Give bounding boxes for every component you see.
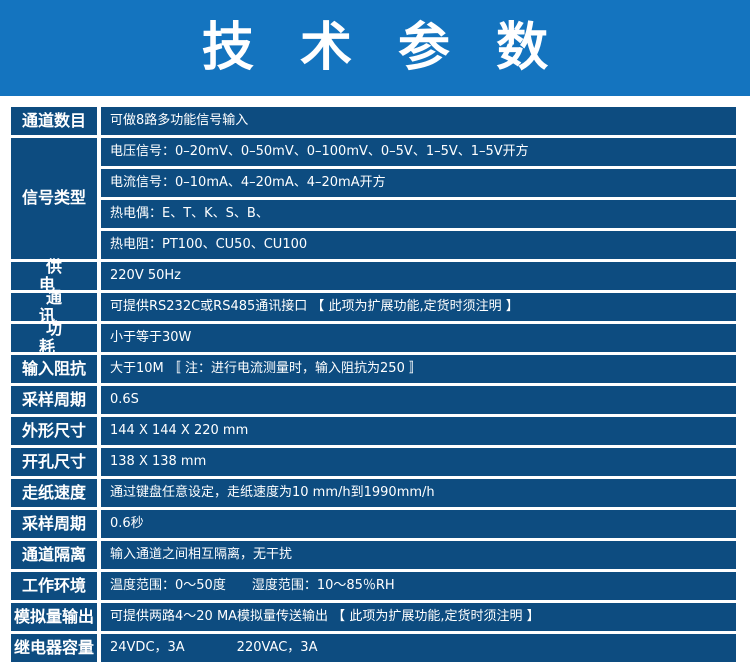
row-label: 继电器容量	[11, 634, 97, 662]
row-values: 电压信号：0–20mV、0–50mV、0–100mV、0–5V、1–5V、1–5…	[101, 138, 736, 259]
row-values: 可提供RS232C或RS485通讯接口 【 此项为扩展功能,定货时须注明 】	[101, 293, 736, 321]
row-value: 热电阻：PT100、CU50、CU100	[101, 231, 736, 259]
row-value: 可提供RS232C或RS485通讯接口 【 此项为扩展功能,定货时须注明 】	[101, 293, 736, 321]
table-row: 工作环境温度范围：0～50度 湿度范围：10～85％RH	[11, 572, 736, 600]
row-value: 0.6秒	[101, 510, 736, 538]
row-value: 大于10M 〚 注：进行电流测量时，输入阻抗为250 〛	[101, 355, 736, 383]
row-label: 功 耗	[11, 324, 97, 352]
row-values: 通过键盘任意设定，走纸速度为10 mm/h到1990mm/h	[101, 479, 736, 507]
table-row: 通道数目可做8路多功能信号输入	[11, 107, 736, 135]
row-label: 信号类型	[11, 138, 97, 259]
row-values: 144 X 144 X 220 mm	[101, 417, 736, 445]
row-value: 可做8路多功能信号输入	[101, 107, 736, 135]
table-row: 采样周期0.6秒	[11, 510, 736, 538]
row-label: 采样周期	[11, 386, 97, 414]
row-values: 0.6S	[101, 386, 736, 414]
row-values: 0.6秒	[101, 510, 736, 538]
table-row: 外形尺寸144 X 144 X 220 mm	[11, 417, 736, 445]
row-value: 热电偶：E、T、K、S、B、	[101, 200, 736, 228]
row-label: 走纸速度	[11, 479, 97, 507]
row-value: 144 X 144 X 220 mm	[101, 417, 736, 445]
row-value: 温度范围：0～50度 湿度范围：10～85％RH	[101, 572, 736, 600]
row-label: 供 电	[11, 262, 97, 290]
row-values: 138 X 138 mm	[101, 448, 736, 476]
row-values: 小于等于30W	[101, 324, 736, 352]
row-values: 大于10M 〚 注：进行电流测量时，输入阻抗为250 〛	[101, 355, 736, 383]
table-row: 信号类型电压信号：0–20mV、0–50mV、0–100mV、0–5V、1–5V…	[11, 138, 736, 259]
row-values: 输入通道之间相互隔离，无干扰	[101, 541, 736, 569]
row-value: 电压信号：0–20mV、0–50mV、0–100mV、0–5V、1–5V、1–5…	[101, 138, 736, 166]
row-label: 输入阻抗	[11, 355, 97, 383]
row-values: 220V 50Hz	[101, 262, 736, 290]
row-value: 138 X 138 mm	[101, 448, 736, 476]
table-row: 通 讯可提供RS232C或RS485通讯接口 【 此项为扩展功能,定货时须注明 …	[11, 293, 736, 321]
table-row: 通道隔离输入通道之间相互隔离，无干扰	[11, 541, 736, 569]
row-label: 工作环境	[11, 572, 97, 600]
row-value: 通过键盘任意设定，走纸速度为10 mm/h到1990mm/h	[101, 479, 736, 507]
row-label: 通道隔离	[11, 541, 97, 569]
row-values: 可做8路多功能信号输入	[101, 107, 736, 135]
row-label: 模拟量输出	[11, 603, 97, 631]
row-values: 24VDC，3A 220VAC，3A	[101, 634, 736, 662]
row-value: 可提供两路4～20 MA模拟量传送输出 【 此项为扩展功能,定货时须注明 】	[101, 603, 736, 631]
row-values: 温度范围：0～50度 湿度范围：10～85％RH	[101, 572, 736, 600]
table-row: 模拟量输出可提供两路4～20 MA模拟量传送输出 【 此项为扩展功能,定货时须注…	[11, 603, 736, 631]
row-value: 0.6S	[101, 386, 736, 414]
row-value: 输入通道之间相互隔离，无干扰	[101, 541, 736, 569]
row-value: 电流信号：0–10mA、4–20mA、4–20mA开方	[101, 169, 736, 197]
page-banner: 技 术 参 数	[0, 0, 750, 96]
row-label: 采样周期	[11, 510, 97, 538]
row-value: 220V 50Hz	[101, 262, 736, 290]
page-title: 技 术 参 数	[188, 22, 562, 74]
table-row: 走纸速度通过键盘任意设定，走纸速度为10 mm/h到1990mm/h	[11, 479, 736, 507]
row-label: 通 讯	[11, 293, 97, 321]
table-row: 采样周期0.6S	[11, 386, 736, 414]
row-value: 小于等于30W	[101, 324, 736, 352]
specifications-table: 通道数目可做8路多功能信号输入信号类型电压信号：0–20mV、0–50mV、0–…	[0, 96, 750, 662]
table-row: 输入阻抗大于10M 〚 注：进行电流测量时，输入阻抗为250 〛	[11, 355, 736, 383]
table-row: 继电器容量24VDC，3A 220VAC，3A	[11, 634, 736, 662]
table-row: 开孔尺寸138 X 138 mm	[11, 448, 736, 476]
row-label: 外形尺寸	[11, 417, 97, 445]
table-row: 功 耗小于等于30W	[11, 324, 736, 352]
row-label: 开孔尺寸	[11, 448, 97, 476]
row-value: 24VDC，3A 220VAC，3A	[101, 634, 736, 662]
table-row: 供 电220V 50Hz	[11, 262, 736, 290]
row-label: 通道数目	[11, 107, 97, 135]
row-values: 可提供两路4～20 MA模拟量传送输出 【 此项为扩展功能,定货时须注明 】	[101, 603, 736, 631]
